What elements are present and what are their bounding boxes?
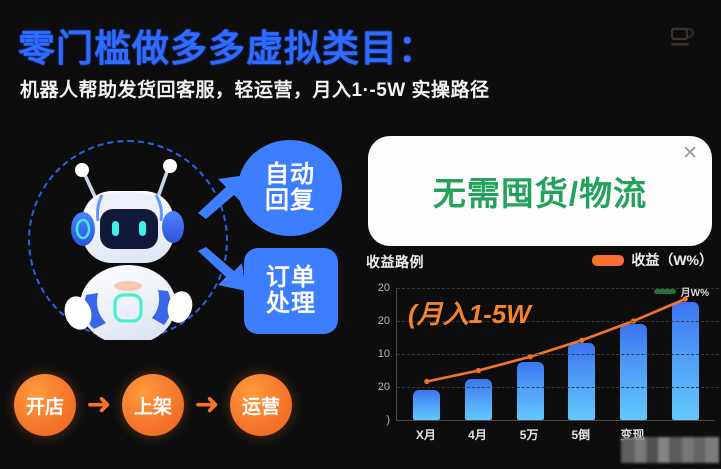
chart-annotation: (月入1-5W bbox=[408, 294, 531, 331]
flow-step-list-product[interactable]: 上架 bbox=[122, 374, 184, 436]
process-flow: 开店 ➜ 上架 ➜ 运营 bbox=[14, 373, 354, 437]
legend-label-revenue: 收益（W%） bbox=[631, 250, 713, 270]
flow-arrow-icon: ➜ bbox=[184, 390, 230, 420]
pill-line-1: 自动 bbox=[265, 162, 315, 188]
feature-pill-auto-reply[interactable]: 自动 回复 bbox=[238, 140, 342, 236]
flow-step-open-shop[interactable]: 开店 bbox=[14, 374, 76, 436]
legend-label-monthly: 月W% bbox=[681, 284, 709, 299]
robot-illustration-group bbox=[8, 125, 258, 365]
promo-graphic-canvas: 零门槛做多多虚拟类目： 机器人帮助发货回客服，轻运营，月入1·-5W 实操路径 bbox=[0, 0, 721, 469]
chart-x-tick: X月 bbox=[406, 426, 446, 443]
arrow-down-right-icon bbox=[196, 245, 248, 295]
legend-swatch-monthly bbox=[654, 289, 676, 294]
highlight-card: 无需囤货/物流 ✕ bbox=[368, 136, 712, 246]
chart-x-tick: 5万 bbox=[509, 426, 549, 443]
robot-mascot-icon bbox=[56, 155, 206, 340]
chart-line-point bbox=[476, 368, 481, 373]
chart-title: 收益路例 bbox=[366, 252, 424, 272]
blurred-watermark bbox=[621, 437, 719, 463]
chart-y-tick: 20 bbox=[378, 282, 390, 294]
flow-step-operate[interactable]: 运营 bbox=[230, 374, 292, 436]
chart-gridline bbox=[397, 387, 719, 388]
flow-arrow-icon: ➜ bbox=[76, 390, 122, 420]
page-subtitle: 机器人帮助发货回客服，轻运营，月入1·-5W 实操路径 bbox=[20, 75, 490, 102]
chart-x-tick: 4月 bbox=[457, 426, 497, 443]
pill-line-2: 回复 bbox=[265, 188, 315, 214]
chart-line-point bbox=[579, 338, 584, 343]
chart-legend: 收益（W%） bbox=[592, 250, 713, 270]
chart-y-tick: ) bbox=[386, 414, 390, 426]
chart-y-tick: 10 bbox=[378, 348, 390, 360]
close-icon[interactable]: ✕ bbox=[682, 144, 698, 163]
chart-y-tick: 20 bbox=[378, 381, 390, 393]
pill-line-2: 处理 bbox=[266, 291, 316, 317]
chart-secondary-legend: 月W% bbox=[654, 284, 709, 299]
feature-pill-order-processing[interactable]: 订单 处理 bbox=[244, 248, 338, 334]
revenue-chart: 收益路例 收益（W%） 20201020) X月4月5万5倒变现 (月入1-5W… bbox=[360, 250, 721, 469]
highlight-card-text: 无需囤货/物流 bbox=[433, 167, 647, 215]
pill-line-1: 订单 bbox=[266, 265, 316, 291]
chart-y-tick: 20 bbox=[378, 315, 390, 327]
page-title: 零门槛做多多虚拟类目： bbox=[18, 18, 436, 72]
chart-line-point bbox=[424, 379, 429, 384]
chart-x-tick: 5倒 bbox=[561, 426, 601, 443]
cup-icon bbox=[665, 18, 699, 52]
chart-gridline bbox=[397, 354, 719, 355]
legend-swatch-revenue bbox=[592, 255, 624, 266]
